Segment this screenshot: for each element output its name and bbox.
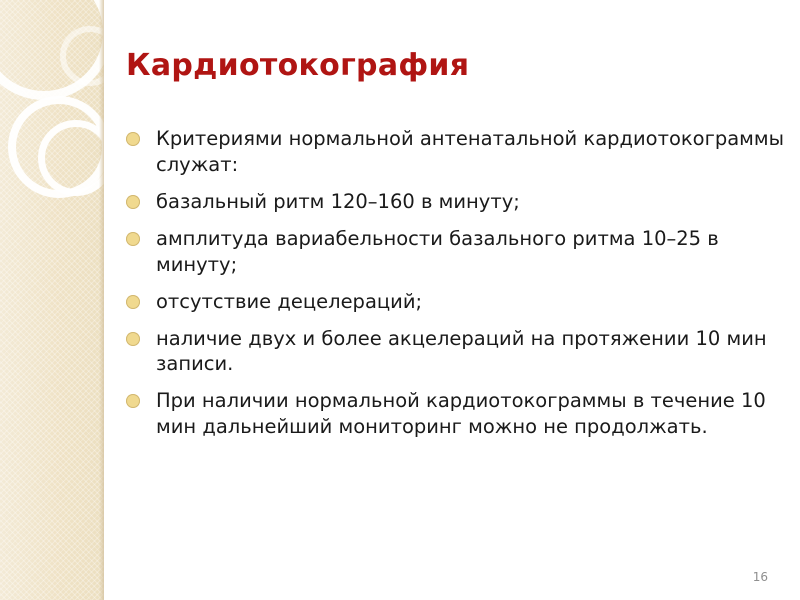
list-item: базальный ритм 120–160 в минуту;: [124, 189, 784, 215]
list-item: Критериями нормальной антенатальной кард…: [124, 126, 784, 178]
bullet-dot-icon: [126, 132, 140, 146]
bullet-dot-icon: [126, 295, 140, 309]
bullet-list: Критериями нормальной антенатальной кард…: [124, 126, 784, 451]
list-item: отсутствие децелераций;: [124, 289, 784, 315]
list-item-text: наличие двух и более акцелераций на прот…: [156, 326, 784, 378]
list-item-text: амплитуда вариабельности базального ритм…: [156, 226, 784, 278]
bullet-dot-icon: [126, 394, 140, 408]
list-item: амплитуда вариабельности базального ритм…: [124, 226, 784, 278]
ring-small-inner-icon: [38, 120, 104, 196]
band-edge-shadow: [99, 0, 104, 600]
bullet-dot-icon: [126, 332, 140, 346]
slide-canvas: Кардиотокография Критериями нормальной а…: [0, 0, 800, 600]
list-item-text: При наличии нормальной кардиотокограммы …: [156, 388, 784, 440]
slide-content: Кардиотокография Критериями нормальной а…: [120, 0, 790, 600]
bullet-dot-icon: [126, 195, 140, 209]
left-decorative-band: [0, 0, 104, 600]
list-item-text: Критериями нормальной антенатальной кард…: [156, 126, 784, 178]
list-item: наличие двух и более акцелераций на прот…: [124, 326, 784, 378]
list-item-text: отсутствие децелераций;: [156, 289, 784, 315]
page-number: 16: [753, 570, 768, 584]
list-item: При наличии нормальной кардиотокограммы …: [124, 388, 784, 440]
page-title: Кардиотокография: [126, 48, 746, 84]
bullet-dot-icon: [126, 232, 140, 246]
list-item-text: базальный ритм 120–160 в минуту;: [156, 189, 784, 215]
